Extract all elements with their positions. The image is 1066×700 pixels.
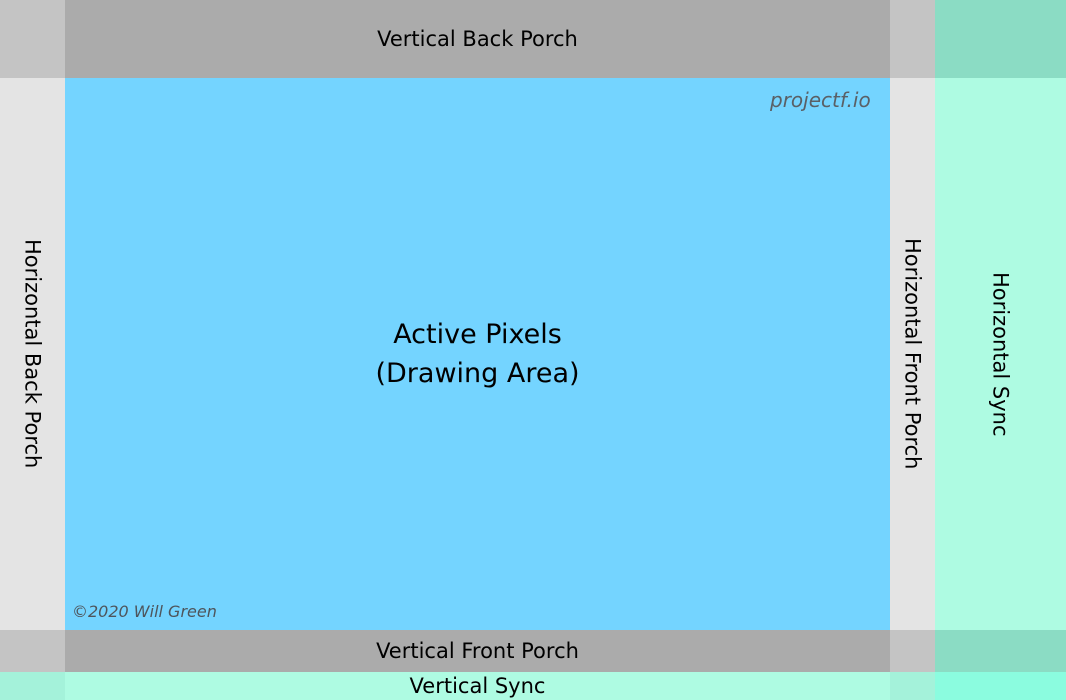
cell-hsync-vsync <box>935 672 1066 700</box>
active-pixels-label: Active Pixels (Drawing Area) <box>375 315 579 393</box>
cell-hsync-vbackporch <box>935 0 1066 78</box>
cell-hbackporch-vbackporch <box>0 0 65 78</box>
region-horizontal-sync: Horizontal Sync <box>935 78 1066 630</box>
copyright-notice: ©2020 Will Green <box>72 602 217 621</box>
region-horizontal-back-porch: Horizontal Back Porch <box>0 78 65 630</box>
display-timing-diagram: Vertical Back Porch Horizontal Back Porc… <box>0 0 1066 700</box>
cell-hfrontporch-vbackporch <box>890 0 935 78</box>
region-vertical-front-porch: Vertical Front Porch <box>65 630 890 672</box>
watermark-projectf: projectf.io <box>770 88 871 112</box>
region-vertical-back-porch: Vertical Back Porch <box>65 0 890 78</box>
vertical-back-porch-label: Vertical Back Porch <box>377 27 578 51</box>
cell-hsync-vfrontporch <box>935 630 1066 672</box>
horizontal-front-porch-label: Horizontal Front Porch <box>900 238 924 469</box>
vertical-front-porch-label: Vertical Front Porch <box>376 639 579 663</box>
cell-hfrontporch-vfrontporch <box>890 630 935 672</box>
cell-hbackporch-vsync <box>0 672 65 700</box>
region-horizontal-front-porch: Horizontal Front Porch <box>890 78 935 630</box>
active-pixels-line-1: Active Pixels <box>375 315 579 354</box>
horizontal-sync-label: Horizontal Sync <box>988 272 1012 437</box>
region-active-pixels: Active Pixels (Drawing Area) <box>65 78 890 630</box>
active-pixels-line-2: (Drawing Area) <box>375 354 579 393</box>
vertical-sync-label: Vertical Sync <box>410 674 546 698</box>
cell-hbackporch-vfrontporch <box>0 630 65 672</box>
horizontal-back-porch-label: Horizontal Back Porch <box>20 239 44 468</box>
region-vertical-sync: Vertical Sync <box>65 672 890 700</box>
cell-hfrontporch-vsync <box>890 672 935 700</box>
